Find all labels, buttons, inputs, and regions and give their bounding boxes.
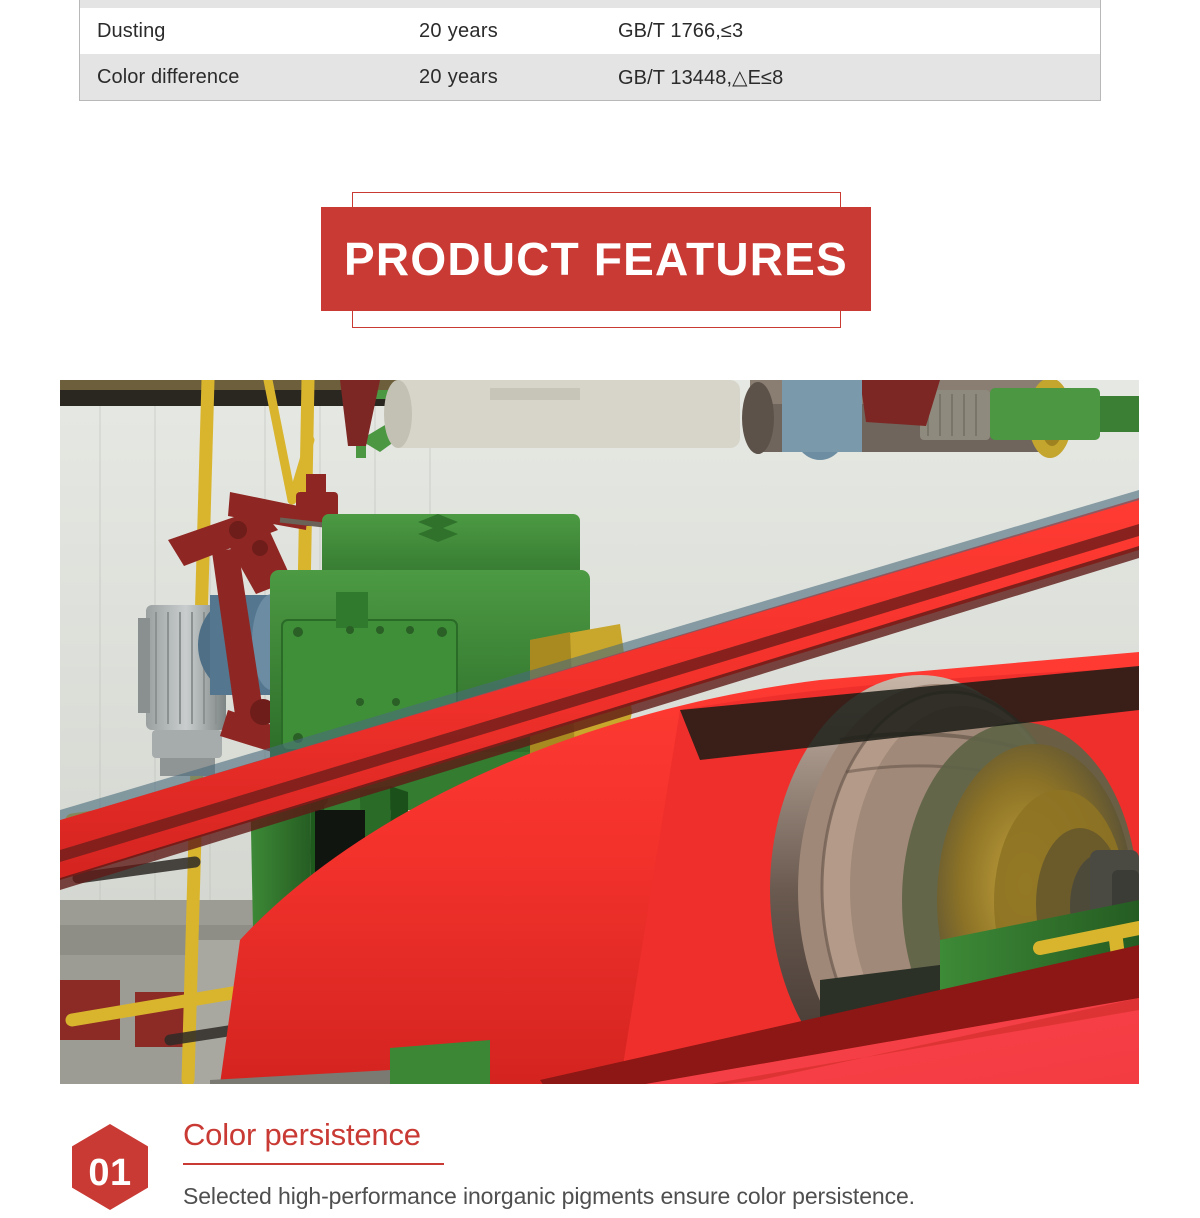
feature-text-block: Color persistence Selected high-performa…	[183, 1118, 1133, 1211]
product-detail-page: Integrity (RC1) 30 years No functional f…	[0, 0, 1200, 1218]
photo-illustration	[60, 380, 1139, 1084]
feature-title: Color persistence	[183, 1118, 1133, 1152]
spec-duration: 20 years	[419, 20, 618, 43]
spec-standard: GB/T 1766,≤3	[618, 20, 1100, 43]
feature-description: Selected high-performance inorganic pigm…	[183, 1182, 1133, 1211]
warranty-spec-table: Integrity (RC1) 30 years No functional f…	[79, 0, 1101, 101]
feature-item-01: 01 Color persistence Selected high-perfo…	[60, 1118, 1140, 1218]
table-row: Integrity (RC1) 30 years No functional f…	[80, 0, 1100, 8]
production-line-photo	[60, 380, 1139, 1084]
banner-fill-block: PRODUCT FEATURES	[321, 207, 871, 311]
table-row: Color difference 20 years GB/T 13448,△E≤…	[80, 54, 1100, 100]
section-banner: PRODUCT FEATURES	[0, 192, 1200, 332]
spec-item: Color difference	[80, 66, 419, 89]
spec-standard: GB/T 13448,△E≤8	[618, 65, 1100, 90]
feature-number: 01	[88, 1142, 131, 1192]
feature-divider	[183, 1163, 444, 1165]
spec-item: Dusting	[80, 20, 419, 43]
table-row: Dusting 20 years GB/T 1766,≤3	[80, 8, 1100, 54]
section-title: PRODUCT FEATURES	[344, 236, 848, 282]
feature-number-badge: 01	[72, 1124, 148, 1210]
spec-duration: 20 years	[419, 66, 618, 89]
